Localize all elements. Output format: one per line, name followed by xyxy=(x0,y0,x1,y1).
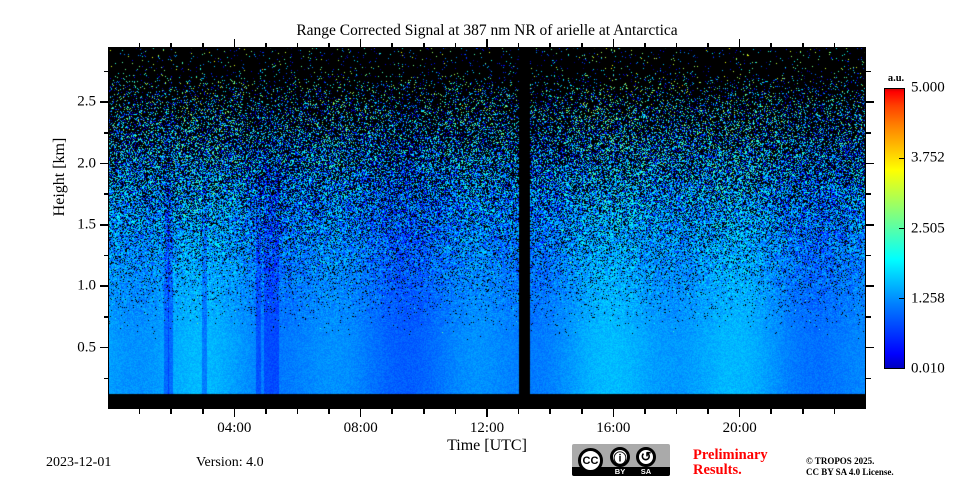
y-tick-left xyxy=(100,224,108,226)
colorbar-tick xyxy=(899,298,905,299)
x-tick-top xyxy=(613,39,615,47)
y-tick-left xyxy=(104,255,109,257)
x-tick-top xyxy=(297,43,299,48)
colorbar-tick-label: 1.258 xyxy=(911,290,945,307)
x-tick-bottom xyxy=(644,409,646,414)
page-title: Range Corrected Signal at 387 nm NR of a… xyxy=(108,22,866,40)
x-tick-bottom xyxy=(518,409,520,414)
colorbar-tick-label: 5.000 xyxy=(911,80,945,97)
preliminary-results-notice: Preliminary Results. xyxy=(693,448,798,478)
x-tick-bottom xyxy=(139,409,141,414)
y-tick-right xyxy=(866,163,874,165)
colorbar-tick-label: 3.752 xyxy=(911,150,945,167)
x-tick-label: 12:00 xyxy=(470,420,504,437)
x-tick-bottom xyxy=(360,409,362,417)
y-tick-left xyxy=(104,378,109,380)
y-tick-right xyxy=(866,347,874,349)
y-tick-left xyxy=(104,193,109,195)
x-tick-bottom xyxy=(739,409,741,417)
x-tick-bottom xyxy=(834,409,836,414)
y-tick-left xyxy=(100,101,108,103)
x-tick-top xyxy=(423,43,425,48)
x-tick-bottom xyxy=(676,409,678,414)
y-tick-right xyxy=(866,193,871,195)
x-tick-top xyxy=(328,43,330,48)
x-tick-top xyxy=(739,39,741,47)
x-tick-top xyxy=(265,43,267,48)
y-axis-label: Height [km] xyxy=(51,77,69,277)
x-tick-bottom xyxy=(549,409,551,414)
y-tick-right xyxy=(866,285,874,287)
x-tick-top xyxy=(676,43,678,48)
x-tick-top xyxy=(391,43,393,48)
y-tick-left xyxy=(104,316,109,318)
y-tick-left xyxy=(100,163,108,165)
x-tick-bottom xyxy=(391,409,393,414)
x-tick-top xyxy=(802,43,804,48)
y-tick-right xyxy=(866,224,874,226)
lidar-heatmap xyxy=(108,47,866,409)
x-tick-top xyxy=(486,39,488,47)
x-tick-top xyxy=(834,43,836,48)
colorbar-tick-label: 2.505 xyxy=(911,220,945,237)
y-tick-right xyxy=(866,132,871,134)
y-tick-left xyxy=(104,132,109,134)
x-tick-bottom xyxy=(486,409,488,417)
x-tick-label: 04:00 xyxy=(217,420,251,437)
x-tick-top xyxy=(455,43,457,48)
footer-date: 2023-12-01 xyxy=(46,455,111,471)
y-tick-right xyxy=(866,255,871,257)
x-tick-label: 16:00 xyxy=(596,420,630,437)
y-tick-right xyxy=(866,378,871,380)
y-tick-right xyxy=(866,101,874,103)
cc-logo-icon: CC xyxy=(578,448,603,473)
x-tick-bottom xyxy=(707,409,709,414)
y-tick-left xyxy=(104,71,109,73)
colorbar-unit-label: a.u. xyxy=(884,73,908,84)
y-tick-right xyxy=(866,71,871,73)
x-tick-top xyxy=(770,43,772,48)
credit-line-2: CC BY SA 4.0 License. xyxy=(806,467,894,478)
cc-by-label: BY xyxy=(608,467,632,476)
x-tick-top xyxy=(170,43,172,48)
x-tick-label: 08:00 xyxy=(344,420,378,437)
y-tick-label: 1.0 xyxy=(52,278,96,295)
x-tick-bottom xyxy=(297,409,299,414)
credit-line-1: © TROPOS 2025. xyxy=(806,456,894,467)
colorbar-tick-label: 0.010 xyxy=(911,361,945,378)
x-tick-top xyxy=(707,43,709,48)
cc-sa-label: SA xyxy=(634,467,658,476)
colorbar-tick xyxy=(899,158,905,159)
cc-sa-sharealike-icon: ↺ xyxy=(636,447,656,467)
x-tick-bottom xyxy=(170,409,172,414)
tropos-copyright-credit: © TROPOS 2025. CC BY SA 4.0 License. xyxy=(806,456,894,478)
x-tick-top xyxy=(581,43,583,48)
x-tick-bottom xyxy=(423,409,425,414)
x-tick-bottom xyxy=(202,409,204,414)
x-tick-bottom xyxy=(802,409,804,414)
x-tick-bottom xyxy=(770,409,772,414)
x-tick-top xyxy=(234,39,236,47)
x-tick-bottom xyxy=(265,409,267,414)
x-tick-bottom xyxy=(613,409,615,417)
colorbar-tick xyxy=(899,228,905,229)
x-tick-top xyxy=(549,43,551,48)
cc-license-badge-icon[interactable]: CC ⓘ ↺ BY SA xyxy=(572,444,670,476)
x-tick-top xyxy=(360,39,362,47)
x-tick-top xyxy=(139,43,141,48)
y-tick-label: 0.5 xyxy=(52,339,96,356)
heatmap-canvas xyxy=(108,47,866,409)
x-tick-bottom xyxy=(234,409,236,417)
footer-version: Version: 4.0 xyxy=(196,455,264,471)
y-tick-left xyxy=(100,347,108,349)
x-tick-label: 20:00 xyxy=(723,420,757,437)
x-tick-top xyxy=(644,43,646,48)
x-tick-bottom xyxy=(455,409,457,414)
y-tick-right xyxy=(866,316,871,318)
y-tick-left xyxy=(100,285,108,287)
x-tick-top xyxy=(202,43,204,48)
x-tick-bottom xyxy=(328,409,330,414)
x-tick-top xyxy=(518,43,520,48)
cc-by-person-icon: ⓘ xyxy=(610,447,630,467)
x-tick-bottom xyxy=(581,409,583,414)
